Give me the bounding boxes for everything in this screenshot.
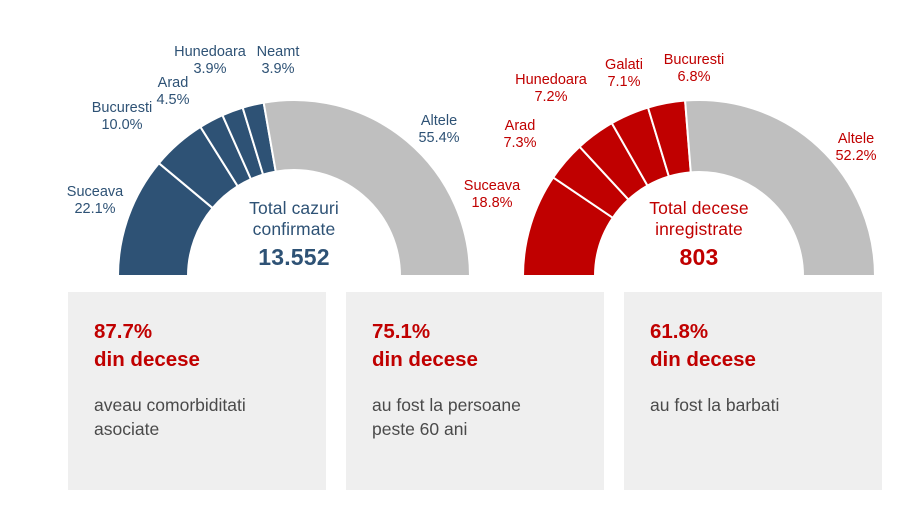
left-label-suceava: Suceava 22.1% xyxy=(49,184,141,218)
left-donut-caption-line-2: confirmate xyxy=(214,219,374,240)
right-label-arad: Arad 7.3% xyxy=(492,118,548,152)
infographic-canvas: Total cazuri confirmate 13.552 Total dec… xyxy=(0,0,910,513)
right-label-suceava: Suceava 18.8% xyxy=(450,178,534,212)
stat-card-percent: 61.8% xyxy=(650,318,860,346)
right-label-hunedoara: Hunedoara 7.2% xyxy=(508,72,594,106)
stat-card-percent: 87.7% xyxy=(94,318,304,346)
stat-card-headline: 75.1% din decese xyxy=(372,318,582,375)
right-donut-caption-line-1: Total decese xyxy=(619,198,779,219)
stat-card-description: au fost la persoane peste 60 ani xyxy=(372,393,582,443)
label-value: 3.9% xyxy=(250,61,306,78)
label-name: Altele xyxy=(823,131,889,148)
right-label-galati: Galati 7.1% xyxy=(596,57,652,91)
stat-card-desc-line-2: peste 60 ani xyxy=(372,417,582,442)
right-donut-center-caption: Total decese inregistrate 803 xyxy=(619,198,779,271)
right-donut-caption-line-2: inregistrate xyxy=(619,219,779,240)
left-donut-caption-line-1: Total cazuri xyxy=(214,198,374,219)
stat-cards-region: 87.7% din decese aveau comorbiditati aso… xyxy=(0,292,910,497)
left-label-altele: Altele 55.4% xyxy=(406,113,472,147)
right-label-bucuresti: Bucuresti 6.8% xyxy=(653,52,735,86)
right-donut-total-value: 803 xyxy=(619,243,779,271)
label-name: Galati xyxy=(596,57,652,74)
label-name: Arad xyxy=(492,118,548,135)
stat-card-desc-line-1: aveau comorbiditati xyxy=(94,393,304,418)
label-value: 7.3% xyxy=(492,135,548,152)
stat-card-desc-line-1: au fost la barbati xyxy=(650,393,860,418)
right-label-altele: Altele 52.2% xyxy=(823,131,889,165)
stat-card-of-label: din decese xyxy=(372,346,582,374)
label-value: 7.1% xyxy=(596,74,652,91)
label-name: Suceava xyxy=(49,184,141,201)
stat-card-of-label: din decese xyxy=(94,346,304,374)
stat-card-description: au fost la barbati xyxy=(650,393,860,418)
left-label-arad: Arad 4.5% xyxy=(150,75,196,109)
stat-card-of-label: din decese xyxy=(650,346,860,374)
stat-card-headline: 87.7% din decese xyxy=(94,318,304,375)
label-value: 6.8% xyxy=(653,69,735,86)
label-value: 55.4% xyxy=(406,130,472,147)
label-name: Bucuresti xyxy=(653,52,735,69)
stat-card-comorbiditati: 87.7% din decese aveau comorbiditati aso… xyxy=(68,292,326,490)
label-name: Altele xyxy=(406,113,472,130)
left-donut-total-value: 13.552 xyxy=(214,243,374,271)
left-label-neamt: Neamt 3.9% xyxy=(250,44,306,78)
label-value: 18.8% xyxy=(450,195,534,212)
label-value: 3.9% xyxy=(168,61,252,78)
stat-card-headline: 61.8% din decese xyxy=(650,318,860,375)
stat-card-description: aveau comorbiditati asociate xyxy=(94,393,304,443)
label-value: 7.2% xyxy=(508,89,594,106)
label-value: 10.0% xyxy=(79,117,165,134)
label-name: Hunedoara xyxy=(508,72,594,89)
stat-card-peste-60-ani: 75.1% din decese au fost la persoane pes… xyxy=(346,292,604,490)
stat-card-desc-line-2: asociate xyxy=(94,417,304,442)
left-donut-center-caption: Total cazuri confirmate 13.552 xyxy=(214,198,374,271)
label-name: Hunedoara xyxy=(168,44,252,61)
label-value: 52.2% xyxy=(823,148,889,165)
stat-card-percent: 75.1% xyxy=(372,318,582,346)
label-name: Neamt xyxy=(250,44,306,61)
left-label-hunedoara: Hunedoara 3.9% xyxy=(168,44,252,78)
stat-card-barbati: 61.8% din decese au fost la barbati xyxy=(624,292,882,490)
label-name: Suceava xyxy=(450,178,534,195)
label-value: 4.5% xyxy=(150,92,196,109)
label-value: 22.1% xyxy=(49,201,141,218)
stat-card-desc-line-1: au fost la persoane xyxy=(372,393,582,418)
